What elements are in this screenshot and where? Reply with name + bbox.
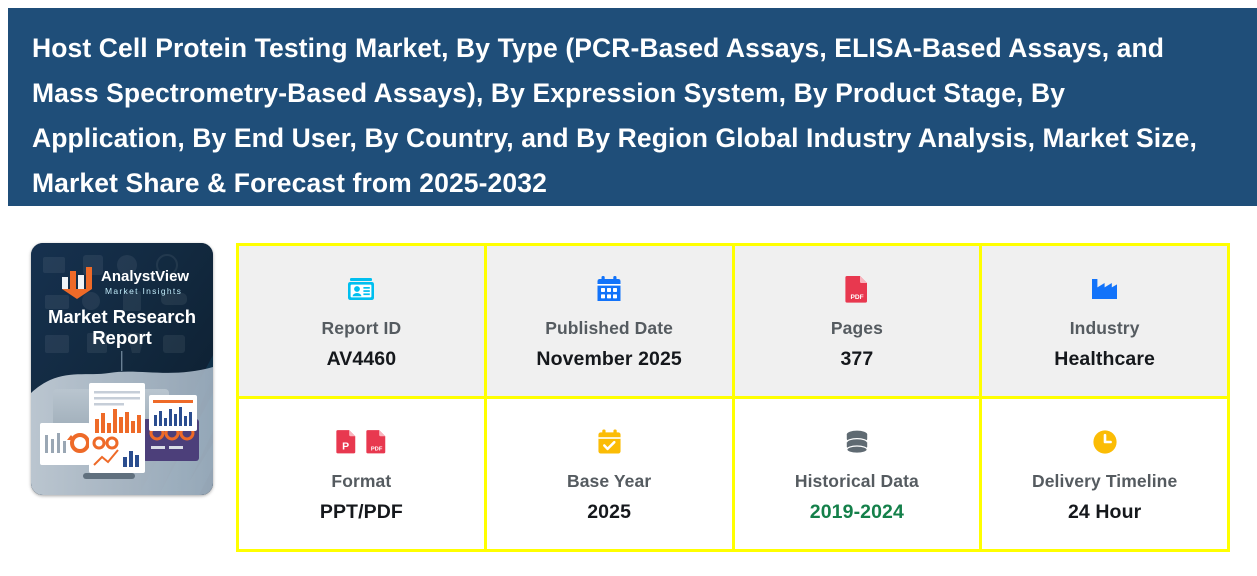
meta-cell-report-id: Report ID AV4460 — [239, 246, 484, 396]
clock-icon — [1092, 425, 1118, 459]
cover-brand-name: AnalystView — [101, 268, 189, 285]
meta-cell-historical-data: Historical Data 2019-2024 — [735, 399, 980, 549]
meta-cell-published-date: Published Date November 2025 — [487, 246, 732, 396]
report-meta-grid: Report ID AV4460 — [236, 243, 1230, 552]
ppt-file-icon: P — [336, 428, 357, 455]
meta-value: PPT/PDF — [320, 501, 403, 524]
report-cover-image[interactable]: AnalystView Market Insights Market Resea… — [31, 243, 213, 495]
meta-cell-format: P PDF Format PPT/PDF — [239, 399, 484, 549]
meta-label: Industry — [1070, 318, 1140, 339]
meta-cell-base-year: Base Year 2025 — [487, 399, 732, 549]
svg-text:PDF: PDF — [371, 446, 383, 452]
svg-text:P: P — [342, 441, 349, 453]
ppt-pdf-file-icon: P PDF — [336, 425, 387, 459]
page-title: Host Cell Protein Testing Market, By Typ… — [32, 26, 1212, 206]
svg-text:PDF: PDF — [850, 294, 863, 301]
meta-value: 377 — [840, 348, 873, 371]
meta-label: Published Date — [545, 318, 673, 339]
meta-value: 2019-2024 — [810, 501, 904, 524]
meta-cell-industry: Industry Healthcare — [982, 246, 1227, 396]
calendar-check-icon — [597, 425, 622, 459]
meta-value: AV4460 — [327, 348, 397, 371]
meta-cell-delivery-timeline: Delivery Timeline 24 Hour — [982, 399, 1227, 549]
meta-label: Format — [331, 471, 391, 492]
pdf-file-icon: PDF — [366, 428, 387, 455]
cover-brand-tagline: Market Insights — [105, 286, 182, 296]
meta-label: Base Year — [567, 471, 651, 492]
meta-value: November 2025 — [536, 348, 681, 371]
meta-label: Delivery Timeline — [1032, 471, 1177, 492]
meta-value: Healthcare — [1054, 348, 1155, 371]
meta-value: 2025 — [587, 501, 631, 524]
pdf-file-icon: PDF — [845, 272, 869, 306]
calendar-icon — [596, 272, 622, 306]
factory-icon — [1091, 272, 1119, 306]
id-card-icon — [347, 272, 375, 306]
cover-heading-line2: Report — [92, 327, 152, 348]
meta-value: 24 Hour — [1068, 501, 1141, 524]
cover-heading-line1: Market Research — [48, 306, 196, 327]
meta-label: Pages — [831, 318, 883, 339]
meta-cell-pages: PDF Pages 377 — [735, 246, 980, 396]
report-title-banner: Host Cell Protein Testing Market, By Typ… — [8, 8, 1257, 206]
report-summary-section: AnalystView Market Insights Market Resea… — [0, 206, 1257, 576]
meta-label: Historical Data — [795, 471, 919, 492]
database-icon — [844, 425, 870, 459]
meta-label: Report ID — [322, 318, 402, 339]
